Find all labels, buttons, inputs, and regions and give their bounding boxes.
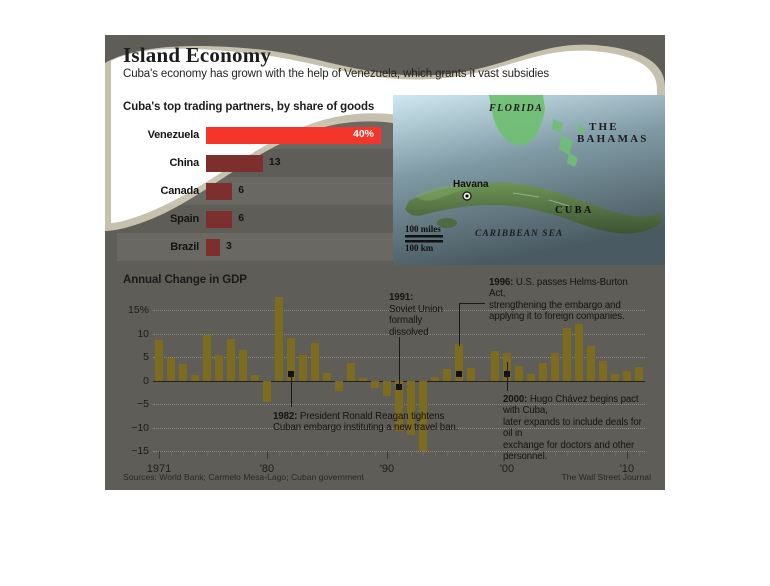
callout-c1996: 1996: U.S. passes Helms-Burton Act,stren… (489, 277, 645, 323)
x-axis-label: '00 (500, 463, 514, 475)
callout-line: later expands to include deals for oil i… (503, 417, 645, 440)
axis-tick (423, 451, 424, 456)
gdp-bar (311, 343, 318, 380)
callout-c1991: 1991:Soviet Unionformallydissolved (389, 292, 443, 338)
callout-line: Cuban embargo instituting a new travel b… (273, 422, 458, 434)
partner-name: Brazil (117, 241, 206, 253)
gdp-bar (251, 375, 258, 381)
partner-row: Spain6 (117, 205, 397, 233)
partner-value: 40% (353, 128, 374, 140)
partner-value: 6 (238, 212, 244, 224)
callout-c1982: 1982: President Ronald Reagan tightensCu… (273, 411, 458, 434)
axis-tick (279, 451, 280, 456)
gdp-bar (551, 353, 558, 380)
partner-row: Brazil3 (117, 233, 397, 261)
partner-bar (206, 183, 232, 200)
map-label-havana: Havana (453, 179, 489, 190)
gdp-bar (431, 377, 438, 380)
y-axis-label: 5 (105, 351, 149, 363)
callout-line: dissolved (389, 327, 443, 339)
gdp-bar (179, 364, 186, 381)
gdp-bar (167, 358, 174, 381)
gdp-bar (239, 350, 246, 381)
partner-name: Venezuela (117, 129, 206, 141)
gdp-bar (227, 339, 234, 380)
partner-name: Spain (117, 213, 206, 225)
y-axis-label: 0 (105, 375, 149, 387)
axis-tick (207, 451, 208, 456)
page-title: Island Economy (123, 43, 271, 68)
gdp-bar (491, 351, 498, 381)
axis-tick (255, 451, 256, 456)
callout-year: 1982: (273, 411, 297, 422)
gdp-bar (215, 355, 222, 380)
callout-line: 1996: U.S. passes Helms-Burton Act, (489, 277, 645, 300)
gdp-bar (623, 371, 630, 381)
partner-name: Canada (117, 185, 206, 197)
partner-bar-track: 6 (206, 183, 397, 200)
gdp-bar (479, 380, 486, 382)
partner-row: China13 (117, 149, 397, 177)
axis-tick (303, 451, 304, 456)
axis-tick (267, 451, 268, 459)
sources-note: Sources: World Bank; Carmelo Mesa-Lago; … (123, 472, 364, 482)
callout-line: Soviet Union (389, 304, 443, 316)
gdp-bar (275, 297, 282, 380)
partner-value: 3 (226, 240, 232, 252)
axis-tick (399, 451, 400, 456)
callout-year: 1991: (389, 292, 413, 303)
gdp-bar (203, 335, 210, 380)
y-axis-label: −15 (105, 445, 149, 457)
partner-bar-track: 3 (206, 239, 397, 256)
publisher-credit: The Wall Street Journal (562, 472, 651, 482)
callout-line: strengthening the embargo and (489, 300, 645, 312)
partner-bar (206, 211, 232, 228)
axis-tick (195, 451, 196, 456)
gdp-bar (359, 378, 366, 381)
callout-line: 1982: President Ronald Reagan tightens (273, 411, 458, 423)
partner-bar (206, 239, 220, 256)
axis-tick (459, 451, 460, 456)
y-axis-label: 15% (105, 304, 149, 316)
y-axis-label: −5 (105, 398, 149, 410)
axis-tick (495, 451, 496, 456)
gdp-bar (155, 340, 162, 381)
cuba-map: FLORIDA THE BAHAMAS CUBA CARIBBEAN SEA H… (393, 95, 665, 265)
page-subtitle: Cuba's economy has grown with the help o… (123, 68, 549, 80)
gdp-bar (347, 363, 354, 381)
gdp-bar (635, 367, 642, 380)
map-scale-km: 100 km (405, 243, 433, 253)
callout-year: 2000: (503, 394, 527, 405)
axis-tick (183, 451, 184, 456)
trading-partners-chart: Venezuela40%China13Canada6Spain6Brazil3 (117, 121, 397, 261)
partner-bar-track: 13 (206, 155, 397, 172)
gdp-bar (611, 374, 618, 381)
axis-tick (351, 451, 352, 456)
gdp-bar (539, 363, 546, 381)
callout-leader-line (459, 303, 485, 304)
gdp-bar (587, 346, 594, 380)
gdp-bar (599, 361, 606, 380)
axis-tick (411, 451, 412, 456)
axis-tick (231, 451, 232, 456)
axis-tick (243, 451, 244, 456)
map-label-florida: FLORIDA (489, 103, 543, 114)
callout-leader-line (291, 374, 292, 406)
axis-tick (171, 451, 172, 456)
gdp-bar (383, 381, 390, 396)
axis-tick (315, 451, 316, 456)
gdp-chart: Annual Change in GDP 15%1050−5−10−151971… (105, 270, 665, 490)
partner-row: Venezuela40% (117, 121, 397, 149)
axis-tick (339, 451, 340, 456)
map-label-caribbean-sea: CARIBBEAN SEA (475, 229, 563, 239)
axis-tick (363, 451, 364, 456)
callout-c2000: 2000: Hugo Chávez begins pact with Cuba,… (503, 394, 645, 463)
callout-leader-line (459, 303, 460, 347)
map-label-bahamas-the: THE (589, 121, 619, 133)
gdp-bar (563, 328, 570, 381)
gdp-bar (263, 381, 270, 402)
axis-tick (159, 451, 160, 459)
gdp-bar (527, 374, 534, 381)
axis-tick (435, 451, 436, 456)
partner-bar-track: 40% (206, 127, 397, 144)
axis-tick (219, 451, 220, 456)
y-axis-label: −10 (105, 422, 149, 434)
map-graphic (393, 95, 665, 265)
map-label-bahamas: BAHAMAS (577, 133, 649, 145)
partner-value: 13 (269, 156, 281, 168)
axis-tick (471, 451, 472, 456)
map-label-cuba: CUBA (555, 205, 594, 216)
infographic-frame: Island Economy Cuba's economy has grown … (105, 35, 665, 490)
callout-line: formally (389, 315, 443, 327)
gdp-chart-title: Annual Change in GDP (123, 274, 247, 286)
partner-bar (206, 155, 263, 172)
gdp-bar (335, 381, 342, 391)
axis-tick (387, 451, 388, 459)
axis-tick (375, 451, 376, 456)
x-axis-label: '90 (380, 463, 394, 475)
callout-year: 1996: (489, 277, 513, 288)
axis-tick (291, 451, 292, 456)
map-scale-miles: 100 miles (405, 224, 441, 234)
gdp-bar (467, 368, 474, 381)
callout-marker (456, 371, 462, 377)
partner-bar-track: 6 (206, 211, 397, 228)
gdp-bar (515, 366, 522, 380)
partner-value: 6 (238, 184, 244, 196)
gdp-bar (371, 381, 378, 388)
y-axis-label: 10 (105, 328, 149, 340)
callout-line: 2000: Hugo Chávez begins pact with Cuba, (503, 394, 645, 417)
partners-chart-title: Cuba's top trading partners, by share of… (123, 101, 374, 113)
callout-leader-line (507, 362, 508, 391)
gdp-bar (575, 324, 582, 381)
axis-tick (483, 451, 484, 456)
gdp-plot-area: 15%1050−5−10−151971'80'90'00'101982: Pre… (153, 296, 645, 451)
partner-row: Canada6 (117, 177, 397, 205)
callout-line: 1991: (389, 292, 443, 304)
axis-tick (327, 451, 328, 456)
gdp-bar (443, 369, 450, 381)
gdp-bar (191, 375, 198, 380)
callout-line: applying it to foreign companies. (489, 311, 645, 323)
axis-tick (447, 451, 448, 456)
gdp-bar (323, 373, 330, 381)
callout-line: exchange for doctors and other personnel… (503, 440, 645, 463)
partner-name: China (117, 157, 206, 169)
gdp-bar (299, 355, 306, 380)
callout-leader-line (399, 337, 400, 387)
